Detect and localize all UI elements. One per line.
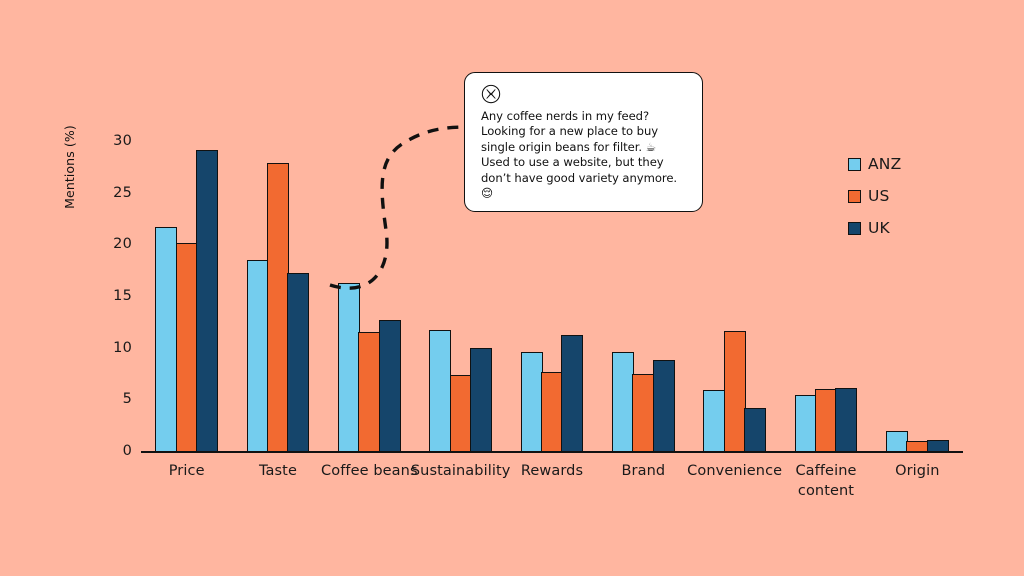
bar-uk[interactable]: [196, 150, 218, 451]
legend-swatch-icon: [848, 190, 861, 203]
bar-us[interactable]: [176, 243, 198, 451]
y-axis-title: Mentions (%): [62, 102, 77, 232]
bar-anz[interactable]: [886, 431, 908, 451]
y-tick-label-15: 15: [96, 288, 132, 304]
bar-uk[interactable]: [287, 273, 309, 451]
legend-item-uk[interactable]: UK: [848, 219, 901, 237]
bar-us[interactable]: [724, 331, 746, 451]
legend-label: US: [868, 187, 890, 205]
bar-us[interactable]: [906, 441, 928, 451]
bar-uk[interactable]: [744, 408, 766, 451]
legend-item-anz[interactable]: ANZ: [848, 155, 901, 173]
y-tick-label-20: 20: [96, 236, 132, 252]
bar-uk[interactable]: [653, 360, 675, 451]
social-post-callout: Any coffee nerds in my feed? Looking for…: [464, 72, 703, 212]
bar-anz[interactable]: [612, 352, 634, 451]
chart-legend: ANZUSUK: [848, 155, 901, 237]
x-tick-label-origin: Origin: [858, 461, 977, 481]
bar-uk[interactable]: [379, 320, 401, 451]
y-tick-label-10: 10: [96, 340, 132, 356]
bar-us[interactable]: [815, 389, 837, 451]
chart-canvas: Mentions (%) 051015202530 PriceTasteCoff…: [0, 0, 1024, 576]
bar-anz[interactable]: [247, 260, 269, 451]
legend-item-us[interactable]: US: [848, 187, 901, 205]
x-axis-line: [141, 451, 963, 453]
y-tick-label-30: 30: [96, 133, 132, 149]
bar-uk[interactable]: [561, 335, 583, 451]
y-tick-label-0: 0: [96, 443, 132, 459]
legend-label: UK: [868, 219, 890, 237]
legend-swatch-icon: [848, 158, 861, 171]
bar-uk[interactable]: [470, 348, 492, 451]
bar-anz[interactable]: [521, 352, 543, 451]
bar-us[interactable]: [267, 163, 289, 451]
bar-group: [141, 110, 232, 451]
bar-anz[interactable]: [155, 227, 177, 451]
legend-label: ANZ: [868, 155, 901, 173]
legend-swatch-icon: [848, 222, 861, 235]
bar-us[interactable]: [541, 372, 563, 451]
bar-uk[interactable]: [835, 388, 857, 451]
bar-anz[interactable]: [703, 390, 725, 451]
bar-us[interactable]: [450, 375, 472, 451]
bar-us[interactable]: [358, 332, 380, 451]
bar-anz[interactable]: [795, 395, 817, 451]
bar-us[interactable]: [632, 374, 654, 452]
bar-group: [232, 110, 323, 451]
bar-anz[interactable]: [338, 283, 360, 451]
callout-text: Any coffee nerds in my feed? Looking for…: [481, 109, 688, 201]
bar-uk[interactable]: [927, 440, 949, 451]
x-logo-icon: [481, 84, 501, 104]
y-tick-label-5: 5: [96, 391, 132, 407]
bar-anz[interactable]: [429, 330, 451, 451]
y-tick-label-25: 25: [96, 185, 132, 201]
